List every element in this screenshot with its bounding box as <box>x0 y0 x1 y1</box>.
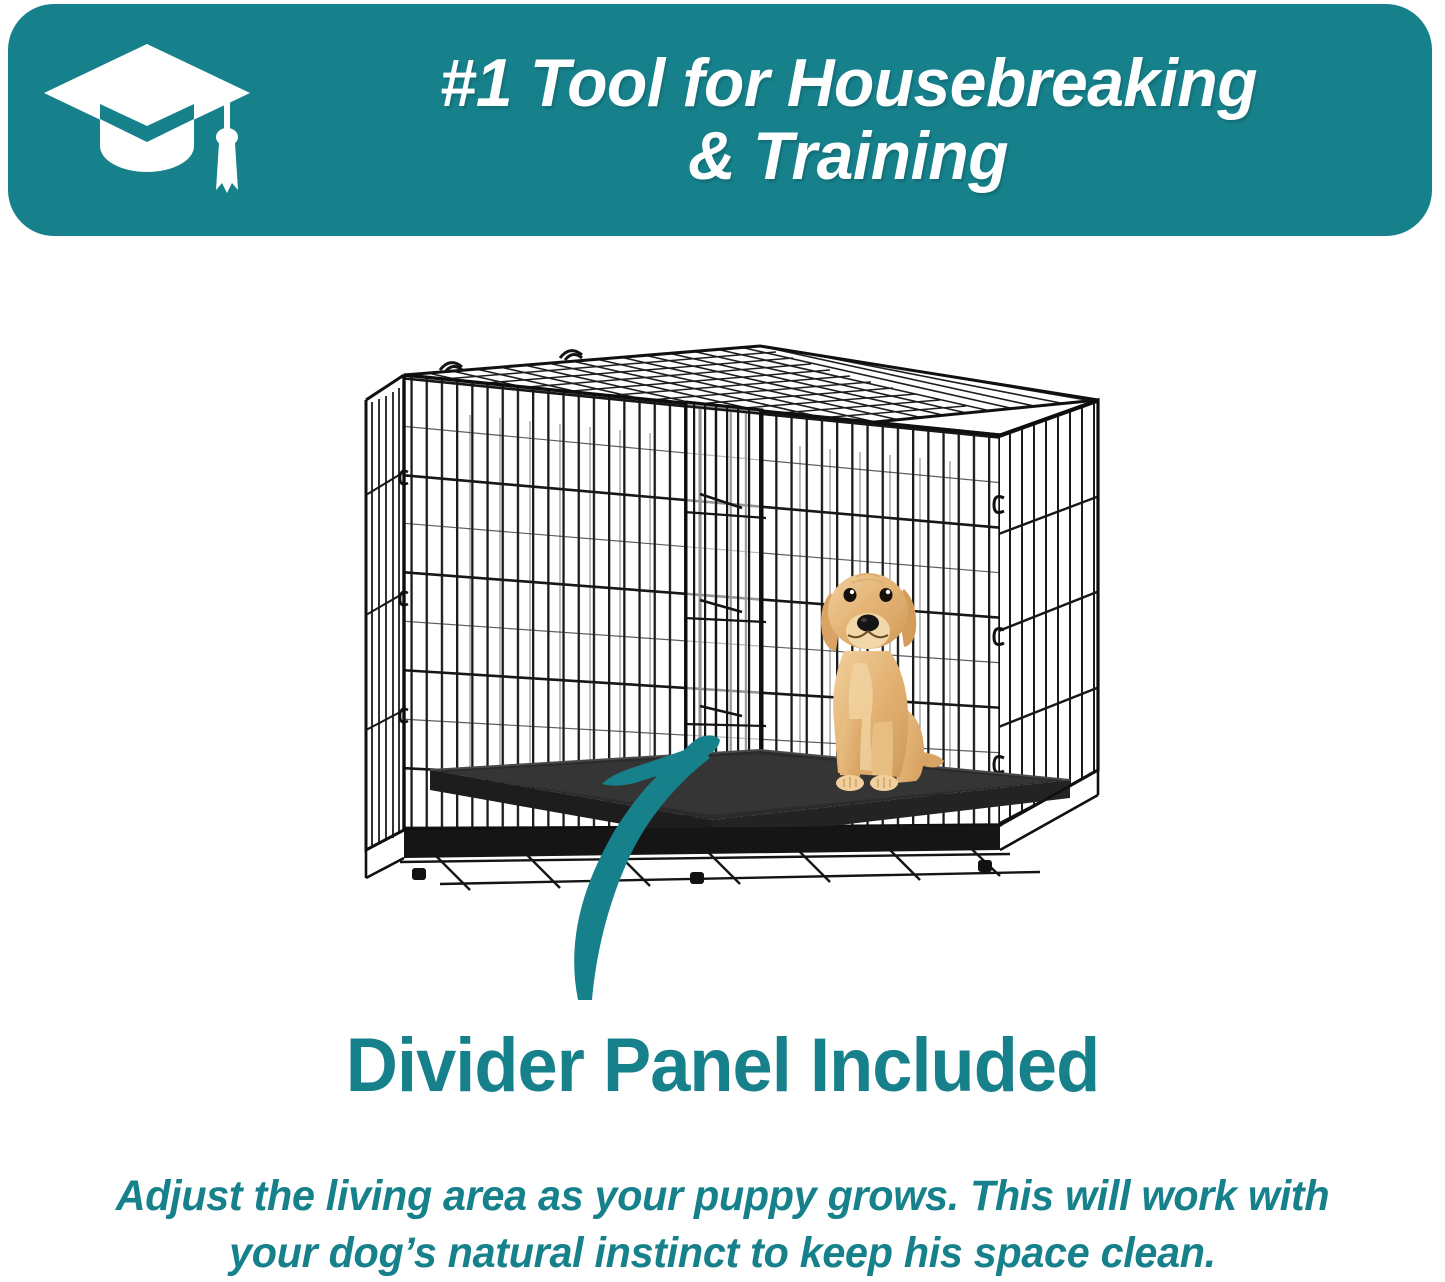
crate-left-side-panel <box>366 375 404 850</box>
headline-banner: #1 Tool for Housebreaking & Training <box>8 4 1432 236</box>
crate-right-side-panel <box>994 362 1102 840</box>
banner-line-1: #1 Tool for Housebreaking <box>439 47 1256 120</box>
product-photo <box>0 250 1445 1010</box>
curved-arrow-pointing-to-divider-panel <box>500 650 800 1010</box>
subcopy-line-2: your dog’s natural instinct to keep his … <box>82 1225 1364 1282</box>
page-subcopy: Adjust the living area as your puppy gro… <box>82 1168 1364 1282</box>
banner-text-block: #1 Tool for Housebreaking & Training <box>288 14 1408 226</box>
page-headline: Divider Panel Included <box>36 1022 1409 1109</box>
graduation-cap-icon <box>38 38 268 203</box>
golden-retriever-puppy <box>806 555 956 805</box>
banner-line-2: & Training <box>688 120 1008 193</box>
subcopy-line-1: Adjust the living area as your puppy gro… <box>82 1168 1364 1225</box>
